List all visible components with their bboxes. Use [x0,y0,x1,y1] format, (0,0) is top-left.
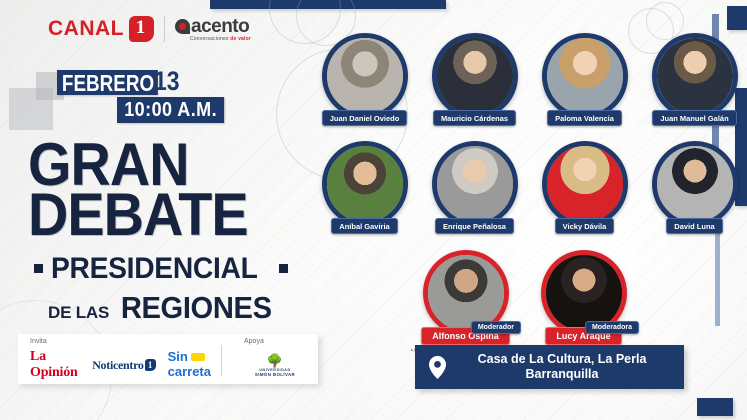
panelist-name: David Luna [666,218,722,234]
event-day: 13 [154,68,180,95]
logo-divider [164,16,165,42]
acento-logo: acento Conversaciones de valor [175,17,251,42]
invita-label: Invita [30,338,47,345]
location-pin-icon [429,356,446,379]
sin-carreta-bubble-icon [191,353,205,361]
avatar [432,141,518,227]
title-line-delas: DE LAS [48,303,109,323]
portrait-photo [657,146,733,222]
portrait-photo [547,146,623,222]
venue-address: Casa de La Cultura, La Perla Barranquill… [456,352,684,382]
canal-wordmark: CANAL [48,17,124,41]
acento-wordmark: acento [191,17,249,36]
portrait-photo [437,146,513,222]
title-dash-right [279,264,288,273]
avatar [652,33,738,119]
title-dash-left [34,264,43,273]
usb-line2: SIMÓN BOLÍVAR [255,372,295,377]
portrait-photo [428,255,504,331]
avatar [652,141,738,227]
sin-carreta-word-carreta: carreta [168,364,211,379]
moderator-tag: Moderador [471,321,521,334]
sponsors-card: Invita La Opinión Noticentro Sin carreta [18,334,318,384]
panelist-name: Paloma Valencia [547,110,622,126]
noticentro-logo: Noticentro [92,358,155,373]
acento-tagline: Conversaciones de valor [190,37,251,42]
panelist-name: Aníbal Gaviria [331,218,397,234]
panelist-card[interactable]: Juan Manuel Galán [647,33,742,126]
panelist-card[interactable]: Enrique Peñalosa [427,141,522,234]
sponsors-invita-group: Invita La Opinión Noticentro Sin carreta [18,334,211,384]
noticentro-one-icon [145,359,156,371]
avatar [542,33,628,119]
panelist-name: Juan Manuel Galán [652,110,736,126]
panelist-card[interactable]: Aníbal Gaviria [317,141,412,234]
speech-bubble-icon [175,19,190,34]
title-line-presidencial: PRESIDENCIAL [51,252,258,286]
panelist-card[interactable]: Paloma Valencia [537,33,632,126]
logo-lockup: CANAL acento Conversaciones de valor [48,16,251,42]
moderator-card[interactable]: Moderador Alfonso Ospina Director Genera… [418,250,513,354]
panelist-name: Vicky Dávila [555,218,615,234]
sponsors-apoya-group: Apoya 🌳 UNIVERSIDAD SIMÓN BOLÍVAR [232,334,318,384]
moderator-tag: Moderadora [585,321,639,334]
moderator-card[interactable]: Moderadora Lucy Araque Editora Jefe La O… [536,250,631,354]
venue-line1: Casa de La Cultura, La Perla [478,352,647,366]
panelist-name: Juan Daniel Oviedo [322,110,408,126]
panelist-card[interactable]: Juan Daniel Oviedo [317,33,412,126]
sponsors-divider [221,345,222,376]
avatar [542,141,628,227]
avatar [322,141,408,227]
apoya-label: Apoya [244,338,264,345]
event-month: FEBRERO [57,70,158,95]
event-time: 10:00 A.M. [117,97,224,123]
event-date-block: FEBRERO 13 10:00 A.M. [57,68,236,123]
venue-banner: Casa de La Cultura, La Perla Barranquill… [415,345,684,389]
portrait-photo [657,38,733,114]
venue-line2: Barranquilla [526,367,599,381]
portrait-photo [437,38,513,114]
panelist-card[interactable]: Vicky Dávila [537,141,632,234]
event-poster: CANAL acento Conversaciones de valor FEB… [0,0,747,420]
moderator-row: Moderador Alfonso Ospina Director Genera… [418,250,631,354]
panelist-card[interactable]: David Luna [647,141,742,234]
la-opinion-logo: La Opinión [30,349,80,381]
left-panel: CANAL acento Conversaciones de valor FEB… [0,0,330,420]
title-line-regiones: REGIONES [121,290,272,326]
canal1-logo: CANAL [48,16,154,42]
universidad-simon-bolivar-logo: 🌳 UNIVERSIDAD SIMÓN BOLÍVAR [232,342,318,377]
poster-title: GRAN DEBATE PRESIDENCIAL DE LAS REGIONES [28,140,330,326]
portrait-photo [547,38,623,114]
sin-carreta-logo: Sin carreta [168,351,211,379]
panelist-row-1: Juan Daniel Oviedo Mauricio Cárdenas Pal… [317,33,742,126]
avatar [432,33,518,119]
panelist-name: Mauricio Cárdenas [433,110,516,126]
panelist-card[interactable]: Mauricio Cárdenas [427,33,522,126]
portrait-photo [327,146,403,222]
portrait-photo [327,38,403,114]
portrait-photo [546,255,622,331]
sin-carreta-word-sin: Sin [168,351,188,363]
crest-icon: 🌳 [267,354,283,367]
panelist-row-2: Aníbal Gaviria Enrique Peñalosa Vicky Dá… [317,141,742,234]
canal-one-icon [129,16,154,42]
panelist-name: Enrique Peñalosa [435,218,514,234]
avatar [322,33,408,119]
title-line-main: GRAN DEBATE [28,140,309,241]
